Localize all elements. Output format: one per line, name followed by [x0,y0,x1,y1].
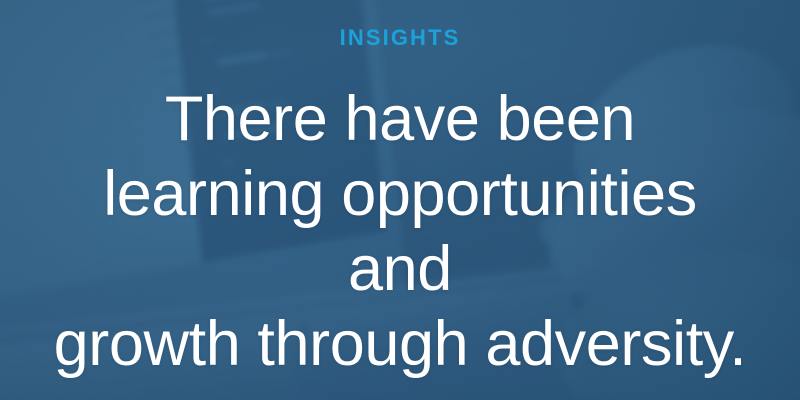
card-content: INSIGHTS There have been learning opport… [0,0,800,400]
insights-quote-card: INSIGHTS There have been learning opport… [0,0,800,400]
eyebrow-label: INSIGHTS [340,27,461,49]
quote-text: There have been learning opportunities a… [50,82,750,382]
